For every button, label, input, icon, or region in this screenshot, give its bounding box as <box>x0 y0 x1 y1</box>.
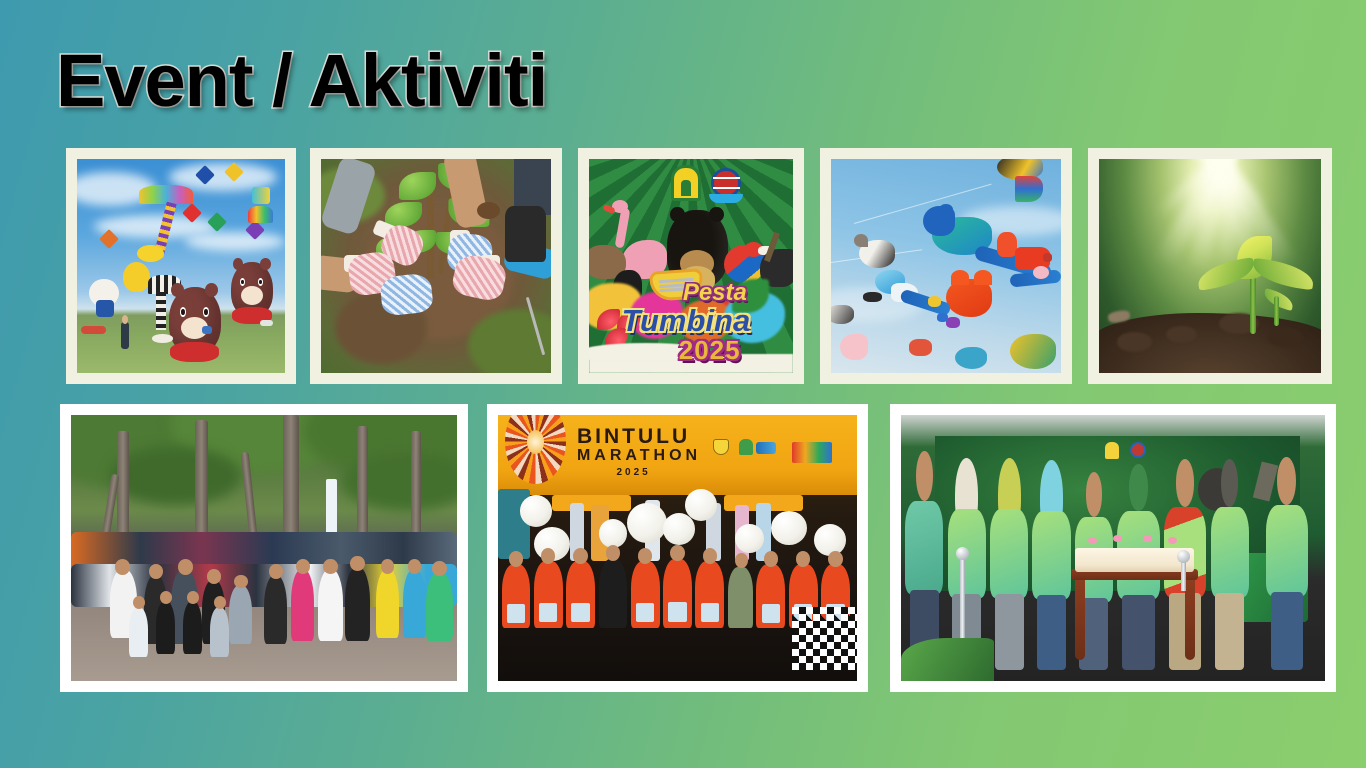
sponsor-logo-sarawak-icon <box>792 442 831 463</box>
photo-frame-inflatable-kites[interactable] <box>820 148 1072 384</box>
photo-bintulu-marathon: BINTULU MARATHON 2025 <box>498 415 857 681</box>
council-logo-icon <box>711 168 741 198</box>
photo-tree-planting-hands <box>321 159 551 373</box>
photo-frame-cake-ceremony[interactable] <box>890 404 1336 692</box>
ceremony-person <box>1032 460 1070 670</box>
photo-park-group-run <box>71 415 457 681</box>
photo-frame-pesta-tumbina[interactable]: Pesta Tumbina 2025 <box>578 148 804 384</box>
photo-frame-park-run[interactable] <box>60 404 468 692</box>
photo-frame-tree-planting[interactable] <box>310 148 562 384</box>
marathon-banner-year: 2025 <box>616 468 650 478</box>
poster-title-line2: Tumbina <box>622 305 751 336</box>
backdrop-logo-council-icon <box>1130 442 1146 458</box>
ceremony-person <box>1211 455 1249 670</box>
photo-frame-seedling[interactable] <box>1088 148 1332 384</box>
macaw-graphic <box>724 245 765 284</box>
ceremony-person <box>1266 452 1308 670</box>
poster-title-line1: Pesta <box>683 281 747 305</box>
ceremony-person <box>990 458 1028 671</box>
photo-kite-festival-field <box>77 159 285 373</box>
sponsor-logo-bintulu-port-icon <box>756 442 776 454</box>
photo-frame-bintulu-marathon[interactable]: BINTULU MARATHON 2025 <box>487 404 868 692</box>
photo-inflatable-kites-sky <box>831 159 1061 373</box>
photo-seedling-soil <box>1099 159 1321 373</box>
photo-frame-kite-festival[interactable] <box>66 148 296 384</box>
ceremony-person <box>905 447 943 670</box>
bda-logo-icon <box>671 165 701 201</box>
photo-pesta-tumbina-poster: Pesta Tumbina 2025 <box>589 159 793 373</box>
poster-year: 2025 <box>679 337 741 363</box>
sponsor-logo-council-icon <box>739 439 753 455</box>
backdrop-logo-bda-icon <box>1105 442 1119 459</box>
checkered-flag <box>792 607 857 671</box>
marathon-banner-line1: BINTULU <box>577 426 690 447</box>
marathon-banner-line2: MARATHON <box>577 448 701 464</box>
page-title: Event / Aktiviti <box>56 38 547 123</box>
photo-cake-cutting-ceremony <box>901 415 1325 681</box>
